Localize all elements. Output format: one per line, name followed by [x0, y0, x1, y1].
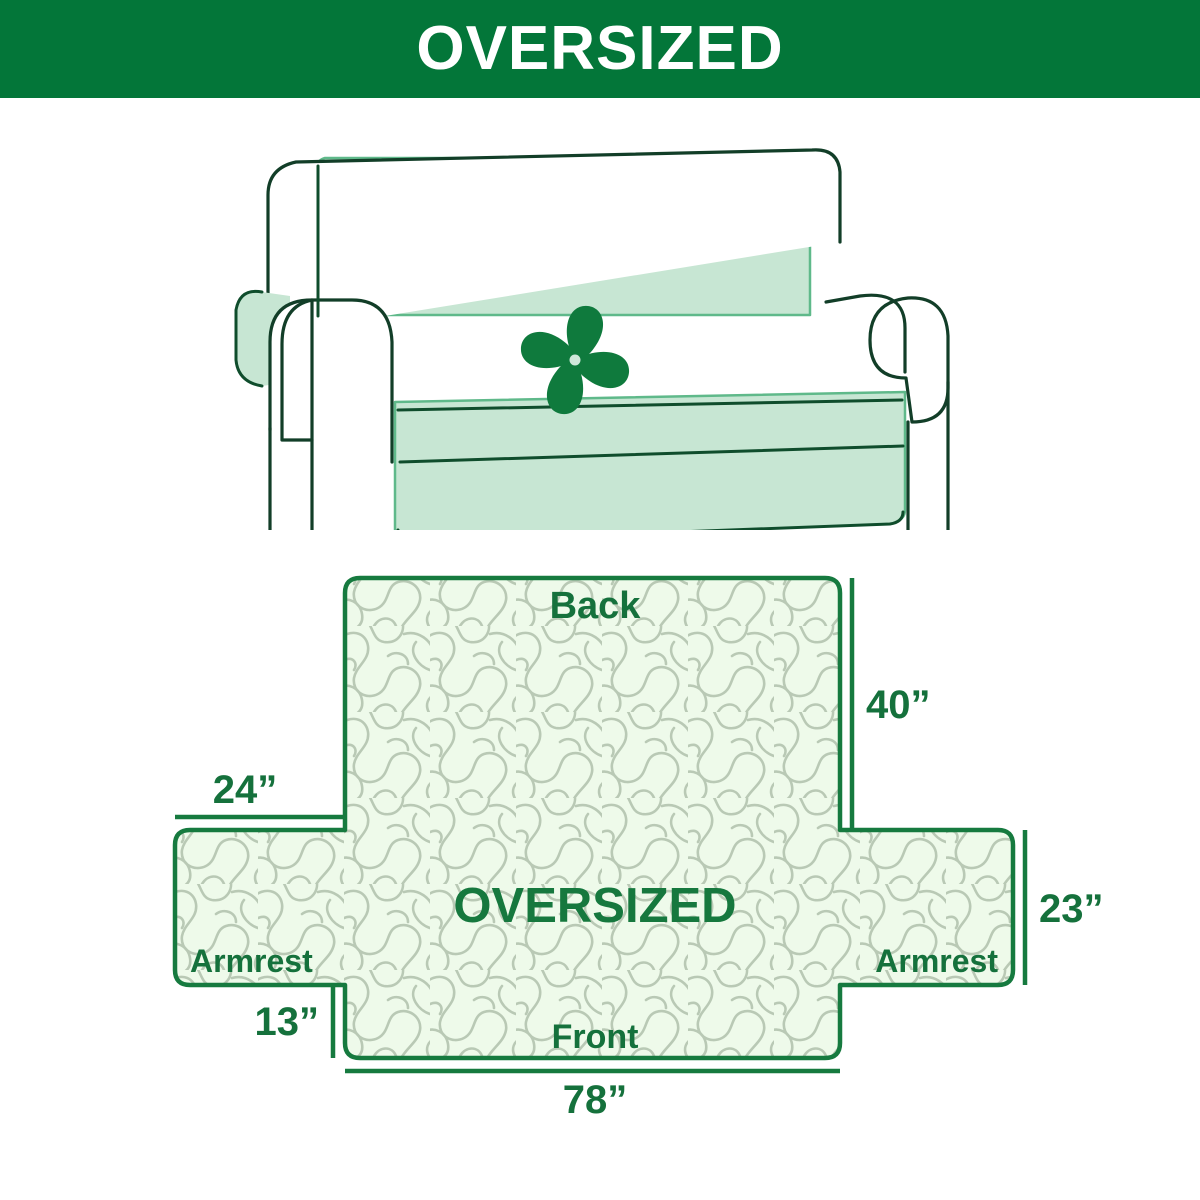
- svg-text:40”: 40”: [866, 683, 931, 727]
- svg-text:24”: 24”: [213, 768, 278, 812]
- label-center-oversized: OVERSIZED: [453, 879, 736, 933]
- dimension-total-width: 78”: [345, 1071, 840, 1120]
- dimension-arm-width: 24”: [175, 768, 345, 817]
- dimension-arm-height: 23”: [1025, 830, 1104, 985]
- dimension-front-drop: 13”: [255, 985, 334, 1058]
- svg-text:23”: 23”: [1039, 887, 1104, 931]
- sofa-left-armrest: [270, 300, 392, 530]
- slipcover-dimension-diagram: .panel { fill:url(#stipple); stroke:#167…: [0, 540, 1200, 1120]
- svg-text:13”: 13”: [255, 1000, 320, 1044]
- label-armrest-right: Armrest: [875, 943, 998, 979]
- dimension-back-height: 40”: [852, 578, 931, 830]
- label-armrest-left: Armrest: [190, 943, 313, 979]
- label-back: Back: [550, 585, 642, 627]
- page-title: OVERSIZED: [416, 18, 783, 80]
- product-dimension-infographic: OVERSIZED .ink { fill:none; stroke:#0f4d…: [0, 0, 1200, 1200]
- svg-text:78”: 78”: [563, 1078, 628, 1120]
- sofa-illustration: .ink { fill:none; stroke:#0f4d2c; stroke…: [0, 110, 1200, 530]
- header-banner: OVERSIZED: [0, 0, 1200, 98]
- label-front: Front: [552, 1018, 639, 1056]
